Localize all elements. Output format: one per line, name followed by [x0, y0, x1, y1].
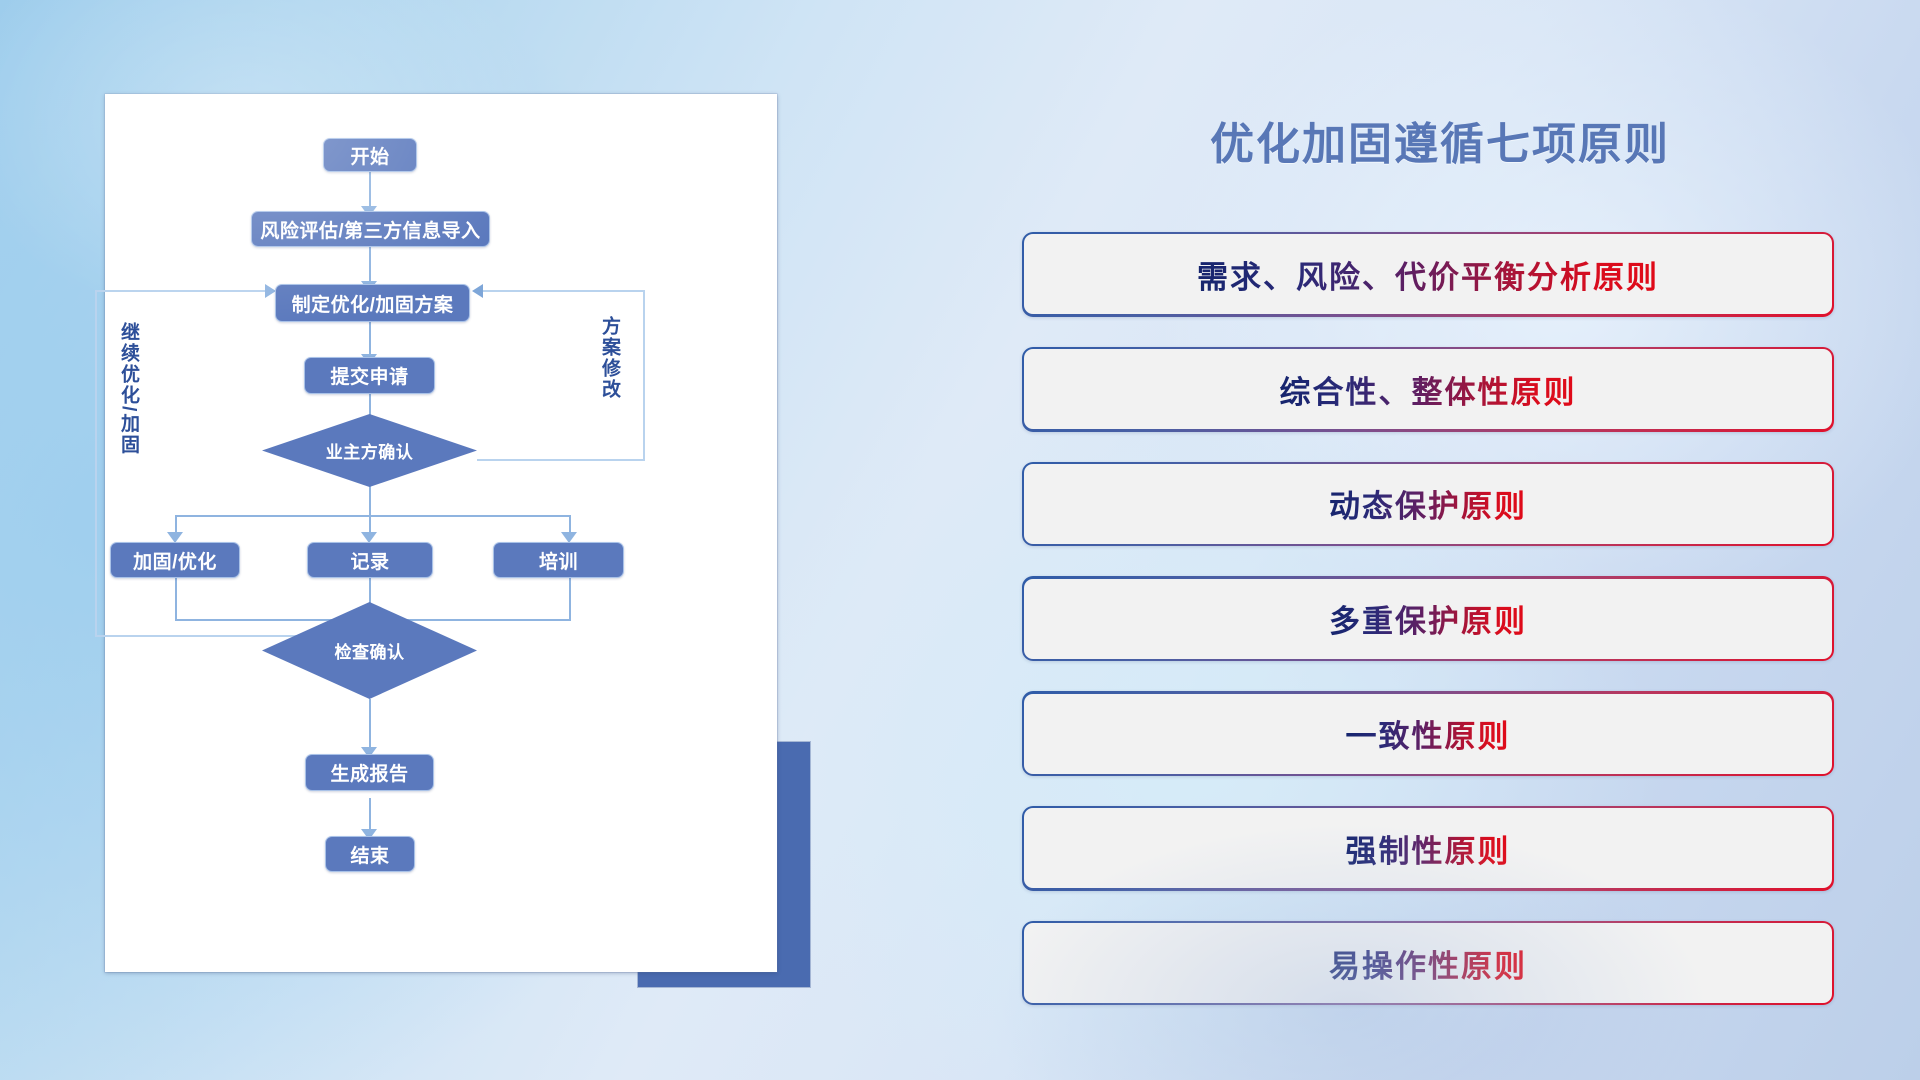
edge-label-continue-optimize: 继续优化/加固: [119, 322, 138, 455]
flow-node-record-label: 记录: [350, 547, 389, 574]
flow-node-start[interactable]: 开始: [323, 138, 417, 172]
flow-node-risk-assessment-label: 风险评估/第三方信息导入: [260, 216, 480, 243]
flow-node-reinforce[interactable]: 加固/优化: [110, 542, 240, 578]
connector-plan-to-submit: [369, 320, 371, 357]
flow-node-plan[interactable]: 制定优化/加固方案: [275, 284, 470, 322]
principle-item-7-label: 易操作性原则: [1329, 941, 1527, 986]
connector-risk-to-plan: [369, 245, 371, 283]
principle-item-7[interactable]: 易操作性原则: [1022, 921, 1834, 1006]
flow-node-reinforce-label: 加固/优化: [133, 547, 217, 574]
flow-node-end-label: 结束: [350, 841, 389, 868]
connector-start-to-risk: [369, 170, 371, 208]
principle-item-6[interactable]: 强制性原则: [1022, 806, 1834, 891]
principle-item-4-label: 多重保护原则: [1329, 596, 1527, 641]
right-loop-vertical-segment: [643, 290, 645, 461]
flow-node-submit-application-label: 提交申请: [330, 362, 408, 389]
principle-item-1-inner: 需求、风险、代价平衡分析原则: [1024, 234, 1831, 314]
flow-node-owner-confirm-label: 业主方确认: [326, 438, 414, 463]
principle-item-2-inner: 综合性、整体性原则: [1024, 349, 1831, 429]
principle-item-4-inner: 多重保护原则: [1024, 579, 1831, 659]
left-loop-top-segment: [95, 290, 270, 292]
principle-item-4[interactable]: 多重保护原则: [1022, 576, 1834, 661]
connector-report-to-end: [369, 798, 371, 832]
left-loop-vertical-segment: [95, 290, 97, 637]
connector-check-to-report: [369, 699, 371, 750]
connector-train-down: [569, 576, 571, 621]
edge-label-plan-revision: 方案修改: [600, 316, 619, 400]
principle-item-1[interactable]: 需求、风险、代价平衡分析原则: [1022, 232, 1834, 317]
principle-item-2-label: 综合性、整体性原则: [1280, 367, 1577, 412]
principle-item-1-label: 需求、风险、代价平衡分析原则: [1197, 252, 1659, 297]
flow-node-generate-report[interactable]: 生成报告: [305, 754, 434, 791]
flowchart-card: 开始 风险评估/第三方信息导入 制定优化/加固方案 提交申请 业主方确认 加固/…: [105, 94, 777, 972]
flow-node-owner-confirm[interactable]: 业主方确认: [262, 414, 477, 487]
principle-item-3-inner: 动态保护原则: [1024, 464, 1831, 544]
flow-node-generate-report-label: 生成报告: [330, 759, 408, 786]
right-loop-bottom-segment: [477, 459, 645, 461]
principle-item-6-inner: 强制性原则: [1024, 808, 1831, 888]
flowchart-canvas: 开始 风险评估/第三方信息导入 制定优化/加固方案 提交申请 业主方确认 加固/…: [105, 94, 777, 972]
principle-item-5-label: 一致性原则: [1346, 711, 1511, 756]
flow-node-submit-application[interactable]: 提交申请: [304, 357, 435, 394]
principles-panel-title: 优化加固遵循七项原则: [1030, 108, 1850, 172]
principle-item-5[interactable]: 一致性原则: [1022, 691, 1834, 776]
flow-node-training[interactable]: 培训: [493, 542, 624, 578]
flow-node-plan-label: 制定优化/加固方案: [292, 290, 454, 317]
flow-node-record[interactable]: 记录: [307, 542, 433, 578]
flow-node-training-label: 培训: [539, 547, 578, 574]
flow-node-start-label: 开始: [350, 142, 389, 169]
principle-item-6-label: 强制性原则: [1346, 826, 1511, 871]
connector-reinforce-down: [175, 576, 177, 621]
principles-list: 需求、风险、代价平衡分析原则 综合性、整体性原则 动态保护原则 多重保护原则 一…: [1022, 232, 1834, 1035]
principle-item-3[interactable]: 动态保护原则: [1022, 462, 1834, 547]
branch-distribution-bar: [175, 515, 571, 517]
principle-item-3-label: 动态保护原则: [1329, 481, 1527, 526]
flow-node-risk-assessment[interactable]: 风险评估/第三方信息导入: [251, 211, 490, 247]
flow-node-end[interactable]: 结束: [325, 836, 415, 872]
principle-item-2[interactable]: 综合性、整体性原则: [1022, 347, 1834, 432]
principle-item-7-inner: 易操作性原则: [1024, 923, 1831, 1003]
principle-item-5-inner: 一致性原则: [1024, 694, 1831, 774]
arrowhead-plan-from-right-loop: [472, 284, 483, 298]
right-loop-top-segment: [483, 290, 645, 292]
flow-node-inspection-confirm-label: 检查确认: [335, 638, 405, 663]
slide-canvas: 开始 风险评估/第三方信息导入 制定优化/加固方案 提交申请 业主方确认 加固/…: [0, 0, 1920, 1080]
connector-owner-down: [369, 486, 371, 517]
flow-node-inspection-confirm[interactable]: 检查确认: [262, 602, 477, 699]
